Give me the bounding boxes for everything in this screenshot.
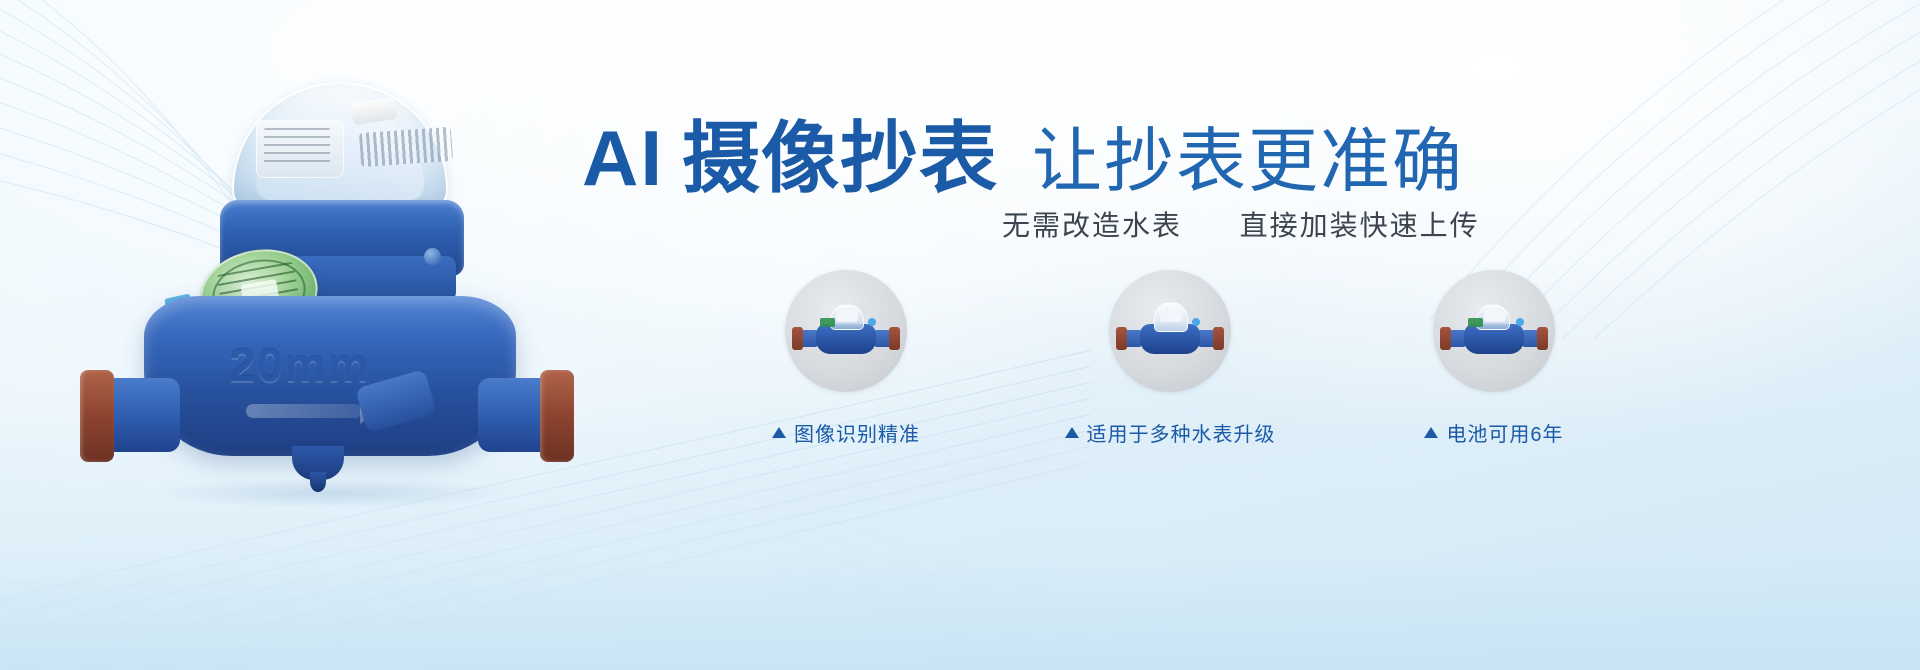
subheadline: 无需改造水表 直接加装快速上传 xyxy=(1002,204,1480,244)
headline: AI 摄像抄表 让抄表更准确 xyxy=(582,96,1464,208)
subheadline-left: 无需改造水表 xyxy=(1002,210,1182,241)
subheadline-right: 直接加装快速上传 xyxy=(1240,210,1480,241)
feature-thumbnail xyxy=(1109,270,1231,392)
meter-flange-left xyxy=(104,378,180,452)
water-meter-icon xyxy=(790,302,902,364)
banner-content: AI 摄像抄表 让抄表更准确 无需改造水表 直接加装快速上传 xyxy=(560,0,1920,670)
hero-product-image: 20mm xyxy=(60,60,580,530)
product-shadow xyxy=(156,478,506,508)
feature-label-text: 适用于多种水表升级 xyxy=(1087,418,1276,447)
headline-ai: AI xyxy=(582,113,664,204)
meter-size-emboss: 20mm xyxy=(210,338,390,392)
flow-arrow-icon xyxy=(246,404,362,418)
feature-thumbnail xyxy=(785,270,907,392)
water-meter-icon xyxy=(1438,302,1550,364)
feature-label-text: 电池可用6年 xyxy=(1446,418,1563,447)
feature-label: 图像识别精准 xyxy=(772,418,920,447)
meter-drip xyxy=(310,472,326,492)
triangle-marker-icon xyxy=(1065,427,1079,438)
feature-item[interactable]: 图像识别精准 xyxy=(760,270,932,447)
meter-cap-left xyxy=(80,370,114,462)
feature-item[interactable]: 电池可用6年 xyxy=(1408,270,1580,447)
headline-light: 让抄表更准确 xyxy=(1032,105,1464,206)
promo-banner: 20mm AI 摄像抄表 让抄表更准确 无需改造水表 直接加装快速上传 xyxy=(0,0,1920,670)
meter-bolt-icon xyxy=(424,248,441,265)
water-meter-icon xyxy=(1114,302,1226,364)
feature-item[interactable]: 适用于多种水表升级 xyxy=(1084,270,1256,447)
headline-strong: 摄像抄表 xyxy=(682,96,998,208)
feature-list: 图像识别精准 适用于多种水表升级 xyxy=(760,270,1580,447)
feature-label: 适用于多种水表升级 xyxy=(1065,418,1276,447)
feature-thumbnail xyxy=(1433,270,1555,392)
meter-camera-module xyxy=(359,127,453,167)
feature-label: 电池可用6年 xyxy=(1424,418,1563,447)
meter-register-text xyxy=(264,128,330,164)
triangle-marker-icon xyxy=(1424,427,1438,438)
triangle-marker-icon xyxy=(772,427,786,438)
feature-label-text: 图像识别精准 xyxy=(794,418,920,447)
